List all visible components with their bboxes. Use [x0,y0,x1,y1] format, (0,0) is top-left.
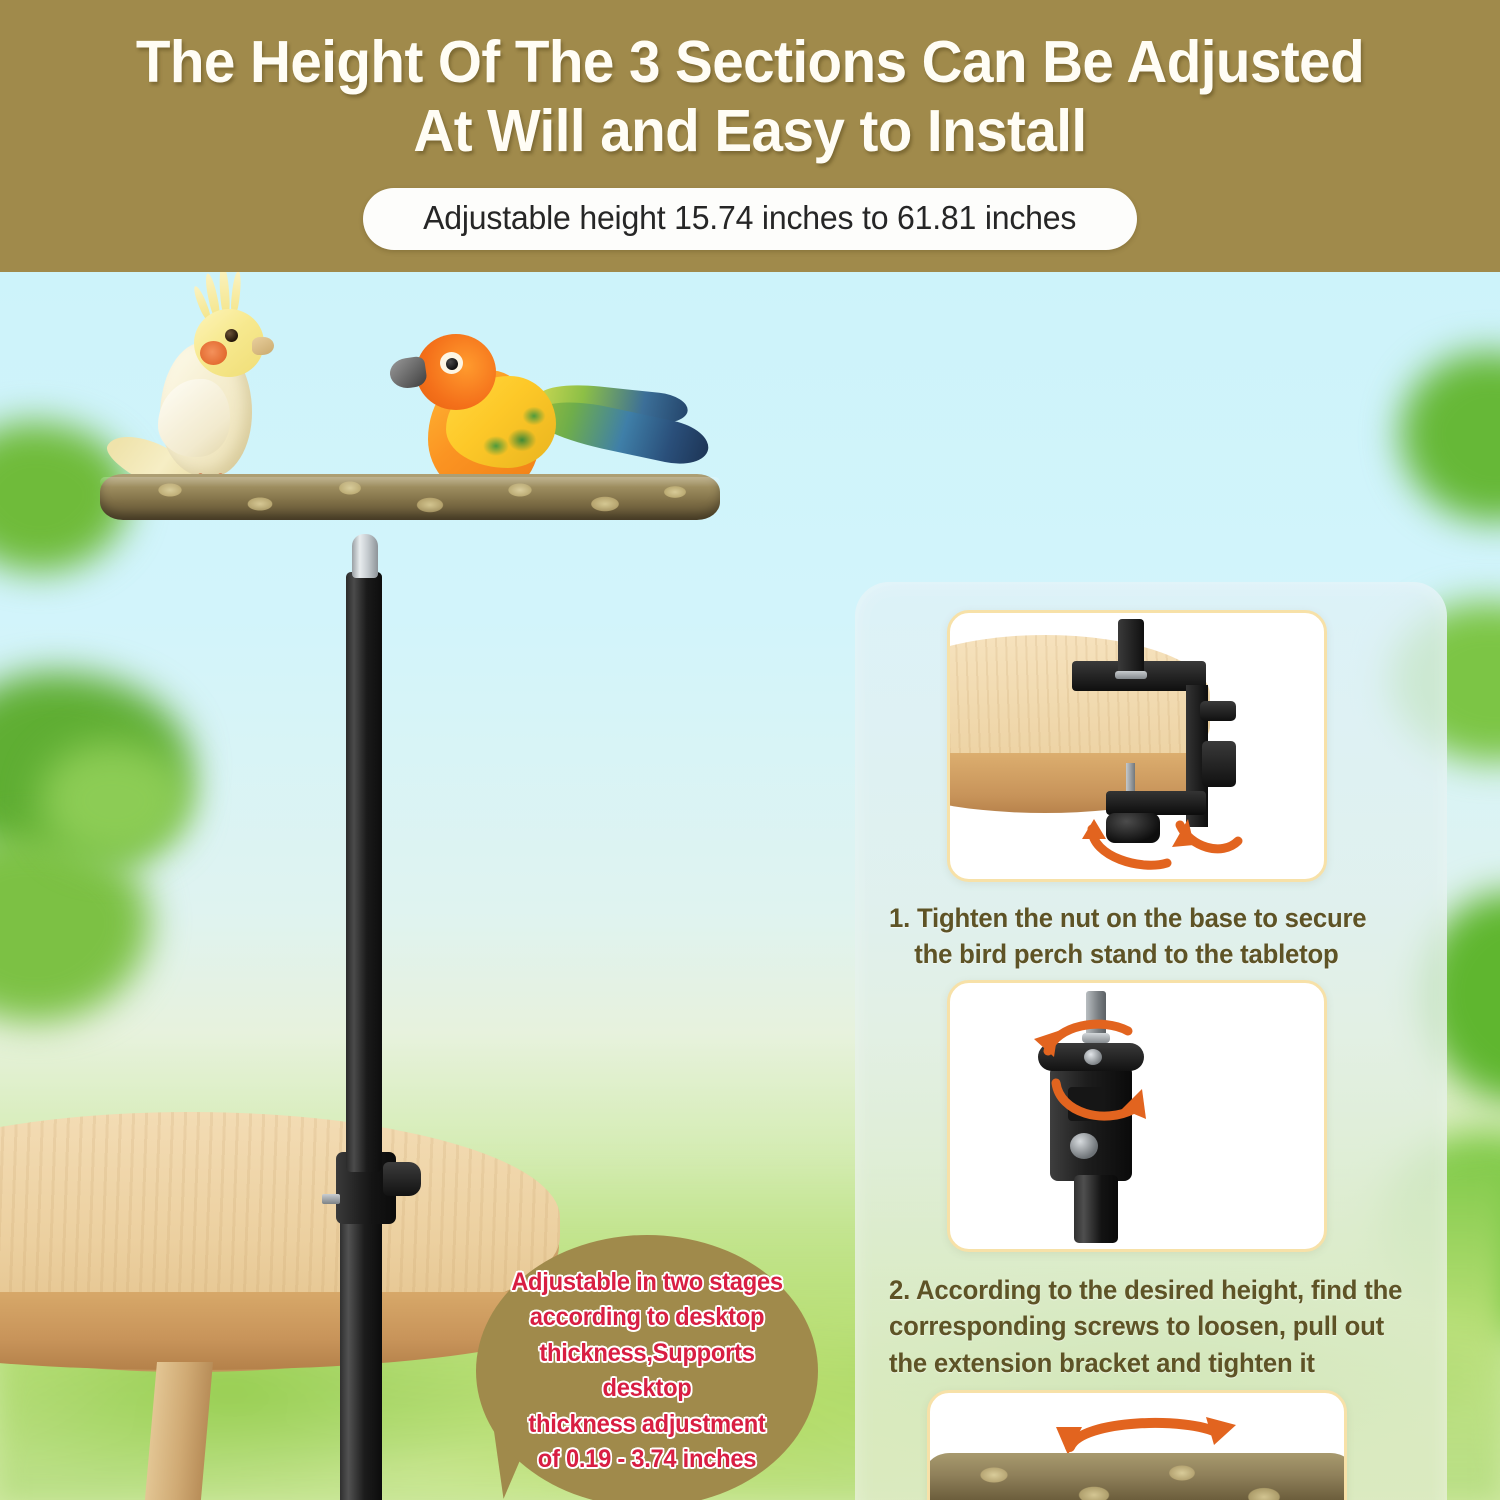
bracket-photo-screw [1070,1133,1098,1159]
callout-line: Adjustable in two stages [505,1265,790,1301]
cockatiel-eye [225,329,238,342]
step-1-text: 1. Tighten the nut on the base to secure… [889,900,1413,973]
callout-line: thickness,Supports desktop [505,1336,790,1407]
clamp-photo-knob [1200,701,1236,721]
step-1-photo-card [947,610,1327,882]
callout-line: of 0.19 - 3.74 inches [505,1442,790,1478]
page-title-line-2: At Will and Easy to Install [68,97,1431,166]
page-title-line-1: The Height Of The 3 Sections Can Be Adju… [136,29,1364,95]
page-title: The Height Of The 3 Sections Can Be Adju… [68,28,1431,166]
step-2-line: 2. According to the desired height, find… [889,1272,1432,1308]
clamp-photo-knob [1202,741,1236,787]
step-2-line: corresponding screws to loosen, pull out [889,1308,1432,1344]
foliage-decoration [40,742,190,862]
foliage-decoration [1400,352,1500,522]
product-scene: Adjustable in two stages according to de… [0,272,1500,1500]
bracket-photo-lower-rod [1074,1175,1118,1243]
callout-bubble-text: Adjustable in two stages according to de… [505,1265,790,1478]
rotation-arrow-icon [1032,1017,1142,1063]
rotation-arrow-icon [1072,813,1252,875]
step-2-text: 2. According to the desired height, find… [889,1272,1432,1381]
step-2-photo-card [947,980,1327,1252]
step-1-line: the bird perch stand to the tabletop [889,936,1413,972]
pepperwood-branch-photo [927,1453,1347,1500]
callout-bubble: Adjustable in two stages according to de… [476,1235,818,1500]
clamp-photo-lower-arm [1106,791,1206,815]
adjustable-height-badge-label: Adjustable height 15.74 inches to 61.81 … [423,199,1076,237]
step-1-line: 1. Tighten the nut on the base to secure [889,900,1413,936]
callout-line: thickness adjustment [505,1407,790,1443]
pole-lower-section [340,1212,382,1500]
header-banner: The Height Of The 3 Sections Can Be Adju… [0,0,1500,272]
rotation-arrow-icon [1046,1075,1156,1127]
adjustable-height-badge: Adjustable height 15.74 inches to 61.81 … [363,188,1136,250]
callout-line: according to desktop [505,1300,790,1336]
wood-perch-branch [100,474,720,520]
instructions-panel: 1. Tighten the nut on the base to secure… [855,582,1447,1500]
mid-clamp-knob [383,1162,421,1196]
clamp-photo-collar [1115,671,1147,679]
perch-assembly [100,452,720,542]
step-3-photo-card [927,1390,1347,1500]
sun-conure-eye [446,358,458,370]
mid-clamp-screw [322,1194,340,1204]
pole-upper-section [346,572,382,1172]
step-2-line: the extension bracket and tighten it [889,1345,1432,1381]
cockatiel-beak [252,337,274,355]
cockatiel-cheek-patch [200,341,227,365]
clamp-photo-post [1118,619,1144,675]
